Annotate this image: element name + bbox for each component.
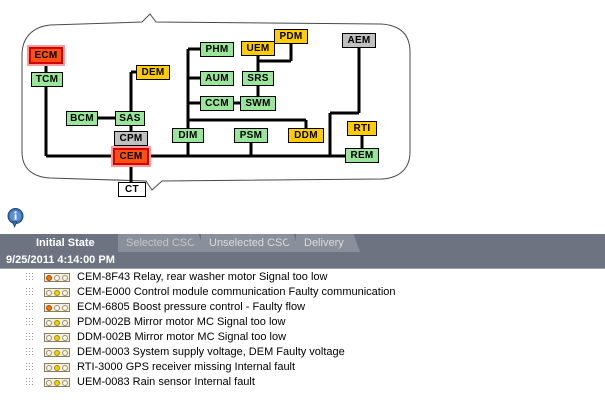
module-node-cem[interactable]: CEM [113, 148, 149, 165]
severity-lights-icon [44, 318, 70, 327]
fault-text: CEM-8F43 Relay, rear washer motor Signal… [77, 270, 327, 285]
network-diagram: ECM TCM BCM SAS DEM CPM CEM CT PHM AUM C… [0, 0, 605, 205]
severity-lights-icon [44, 378, 70, 387]
diagnostics-window: ECM TCM BCM SAS DEM CPM CEM CT PHM AUM C… [0, 0, 605, 415]
tab-selected-csc[interactable]: Selected CSC [118, 234, 198, 252]
drag-handle-icon[interactable] [26, 303, 35, 312]
drag-handle-icon[interactable] [26, 363, 35, 372]
fault-row[interactable]: UEM-0083 Rain sensor Internal fault [0, 375, 605, 390]
date-group-header: 9/25/2011 4:14:00 PM [0, 252, 605, 269]
fault-row[interactable]: CEM-E000 Control module communication Fa… [0, 285, 605, 300]
fault-row[interactable]: CEM-8F43 Relay, rear washer motor Signal… [0, 270, 605, 285]
module-node-dem[interactable]: DEM [136, 65, 170, 80]
drag-handle-icon[interactable] [26, 378, 35, 387]
fault-text: PDM-002B Mirror motor MC Signal too low [77, 315, 285, 330]
module-node-psm[interactable]: PSM [234, 128, 268, 143]
tab-skew-edge [345, 234, 360, 252]
module-node-tcm[interactable]: TCM [31, 72, 63, 87]
fault-text: CEM-E000 Control module communication Fa… [77, 285, 396, 300]
drag-handle-icon[interactable] [26, 333, 35, 342]
fault-code-list[interactable]: CEM-8F43 Relay, rear washer motor Signal… [0, 270, 605, 415]
module-node-cpm[interactable]: CPM [114, 131, 148, 146]
module-node-srs[interactable]: SRS [242, 71, 274, 86]
module-node-ccm[interactable]: CCM [200, 96, 234, 111]
module-node-rti[interactable]: RTI [347, 121, 377, 136]
module-node-dim[interactable]: DIM [172, 128, 204, 143]
module-node-bcm[interactable]: BCM [66, 111, 98, 126]
module-node-swm[interactable]: SWM [240, 96, 276, 111]
fault-text: DDM-002B Mirror motor MC Signal too low [77, 330, 286, 345]
tab-label: Unselected CSC [209, 237, 290, 249]
module-node-rem[interactable]: REM [345, 148, 379, 163]
tab-unselected-csc[interactable]: Unselected CSC [201, 234, 293, 252]
tab-initial-state[interactable]: Initial State [28, 234, 115, 252]
module-node-phm[interactable]: PHM [200, 42, 234, 57]
drag-handle-icon[interactable] [26, 318, 35, 327]
module-node-ddm[interactable]: DDM [288, 128, 324, 143]
module-node-ecm[interactable]: ECM [29, 47, 63, 64]
info-bar [0, 205, 605, 233]
severity-lights-icon [44, 303, 70, 312]
drag-handle-icon[interactable] [26, 348, 35, 357]
fault-row[interactable]: DEM-0003 System supply voltage, DEM Faul… [0, 345, 605, 360]
fault-row[interactable]: PDM-002B Mirror motor MC Signal too low [0, 315, 605, 330]
fault-text: RTI-3000 GPS receiver missing Internal f… [77, 360, 295, 375]
tab-delivery[interactable]: Delivery [296, 234, 353, 252]
fault-text: DEM-0003 System supply voltage, DEM Faul… [77, 345, 345, 360]
fault-text: ECM-6805 Boost pressure control - Faulty… [77, 300, 305, 315]
drag-handle-icon[interactable] [26, 288, 35, 297]
tab-label: Initial State [36, 237, 95, 249]
severity-lights-icon [44, 288, 70, 297]
module-node-pdm[interactable]: PDM [274, 29, 308, 44]
info-balloon-icon[interactable] [7, 208, 24, 228]
module-node-aum[interactable]: AUM [200, 71, 234, 86]
module-node-sas[interactable]: SAS [115, 111, 145, 126]
severity-lights-icon [44, 333, 70, 342]
severity-lights-icon [44, 348, 70, 357]
drag-handle-icon[interactable] [26, 273, 35, 282]
fault-row[interactable]: DDM-002B Mirror motor MC Signal too low [0, 330, 605, 345]
fault-row[interactable]: ECM-6805 Boost pressure control - Faulty… [0, 300, 605, 315]
module-node-uem[interactable]: UEM [241, 41, 275, 56]
severity-lights-icon [44, 363, 70, 372]
fault-text: UEM-0083 Rain sensor Internal fault [77, 375, 255, 390]
module-node-aem[interactable]: AEM [342, 33, 376, 48]
tab-label: Selected CSC [126, 237, 195, 249]
tab-strip: Initial State Selected CSC Unselected CS… [0, 234, 605, 252]
fault-row[interactable]: RTI-3000 GPS receiver missing Internal f… [0, 360, 605, 375]
module-node-ct[interactable]: CT [118, 182, 146, 197]
severity-lights-icon [44, 273, 70, 282]
tab-label: Delivery [304, 237, 344, 249]
